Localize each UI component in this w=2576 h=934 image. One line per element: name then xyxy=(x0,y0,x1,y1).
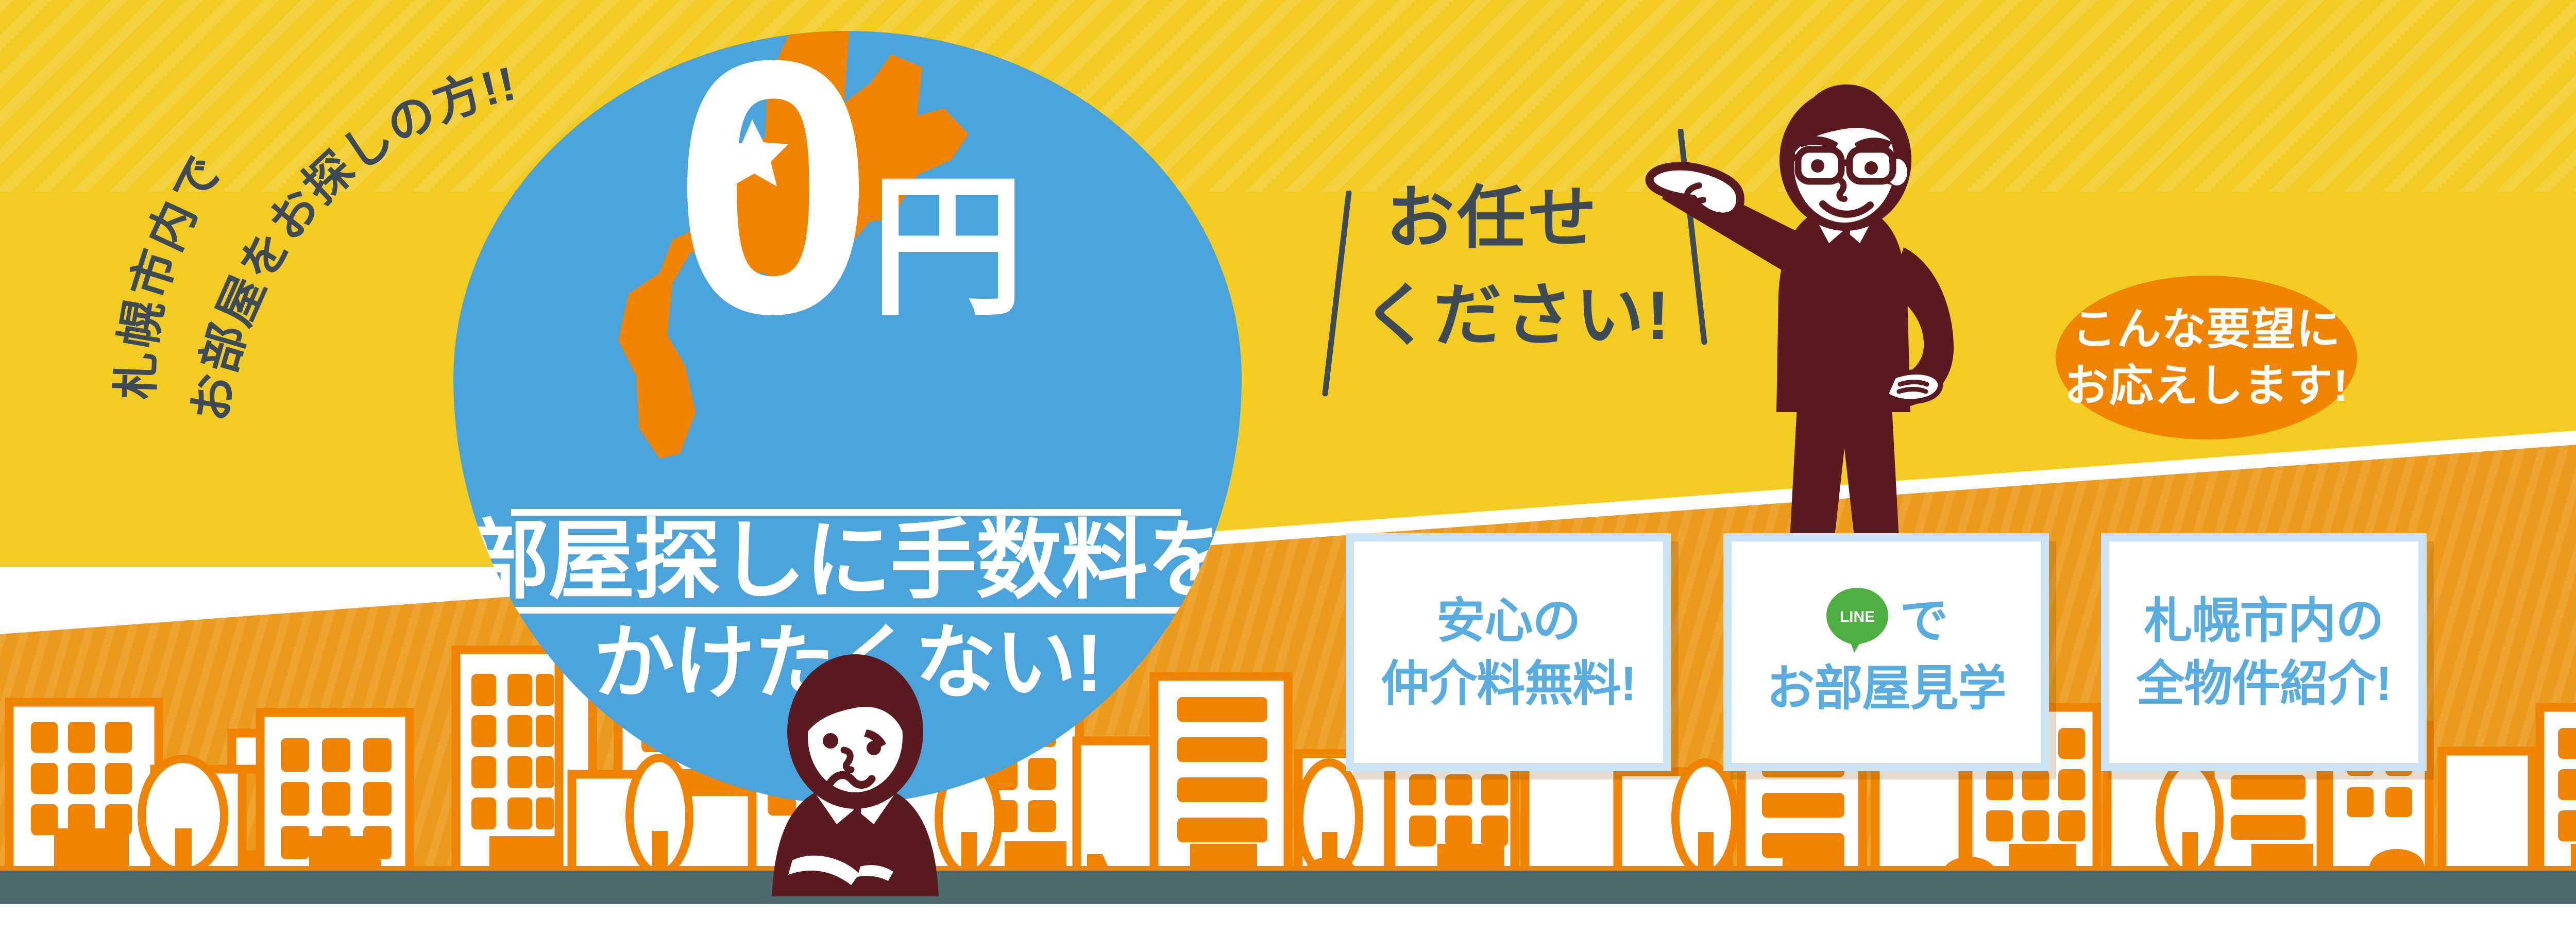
price-amount-row: 0円 xyxy=(453,46,1242,335)
feature-card-list: 安心の 仲介料無料! LINE で お部屋見学 札幌市内の 全物件紹介! xyxy=(1346,533,2430,775)
badge-middle-text: 部屋探しに手数料を xyxy=(453,515,1242,606)
card-1-line-1: 安心の xyxy=(1436,589,1580,652)
speech-bubble-line-2: お応えします! xyxy=(2064,358,2349,414)
badge-rule-bottom xyxy=(511,607,1181,614)
road-strip xyxy=(0,871,2576,904)
card-2-line-2: お部屋見学 xyxy=(1766,657,2006,720)
businessman-illustration xyxy=(1643,77,2004,598)
card-3-line-1: 札幌市内の xyxy=(2144,589,2383,652)
card-2-line-1: で xyxy=(1900,589,1947,652)
speech-bubble-text: こんな要望に お応えします! xyxy=(2064,301,2349,414)
speech-bubble-line-1: こんな要望に xyxy=(2064,301,2349,358)
line-icon-label: LINE xyxy=(1840,608,1875,625)
line-app-icon: LINE xyxy=(1824,585,1890,657)
price-currency-unit: 円 xyxy=(871,169,1025,324)
background-yellow-stripes xyxy=(0,0,2576,192)
feature-card-all-properties[interactable]: 札幌市内の 全物件紹介! xyxy=(2101,533,2427,771)
feature-card-brokerage-free[interactable]: 安心の 仲介料無料! xyxy=(1346,533,1671,771)
speech-bubble: こんな要望に お応えします! xyxy=(2056,276,2357,439)
banner-root: 札幌市内で お部屋をお探しの方!! 0円 部屋探しに手数料を かけたくない! xyxy=(0,0,2576,934)
foreground-white-strip xyxy=(0,904,2576,934)
card-3-line-2: 全物件紹介! xyxy=(2136,652,2391,715)
worried-woman-illustration xyxy=(752,654,958,896)
price-amount: 0 xyxy=(673,46,867,328)
feature-card-line-viewing[interactable]: LINE で お部屋見学 xyxy=(1723,533,2049,771)
card-1-line-2: 仲介料無料! xyxy=(1381,652,1636,715)
card-2-line-1-row: LINE で xyxy=(1824,585,1947,657)
